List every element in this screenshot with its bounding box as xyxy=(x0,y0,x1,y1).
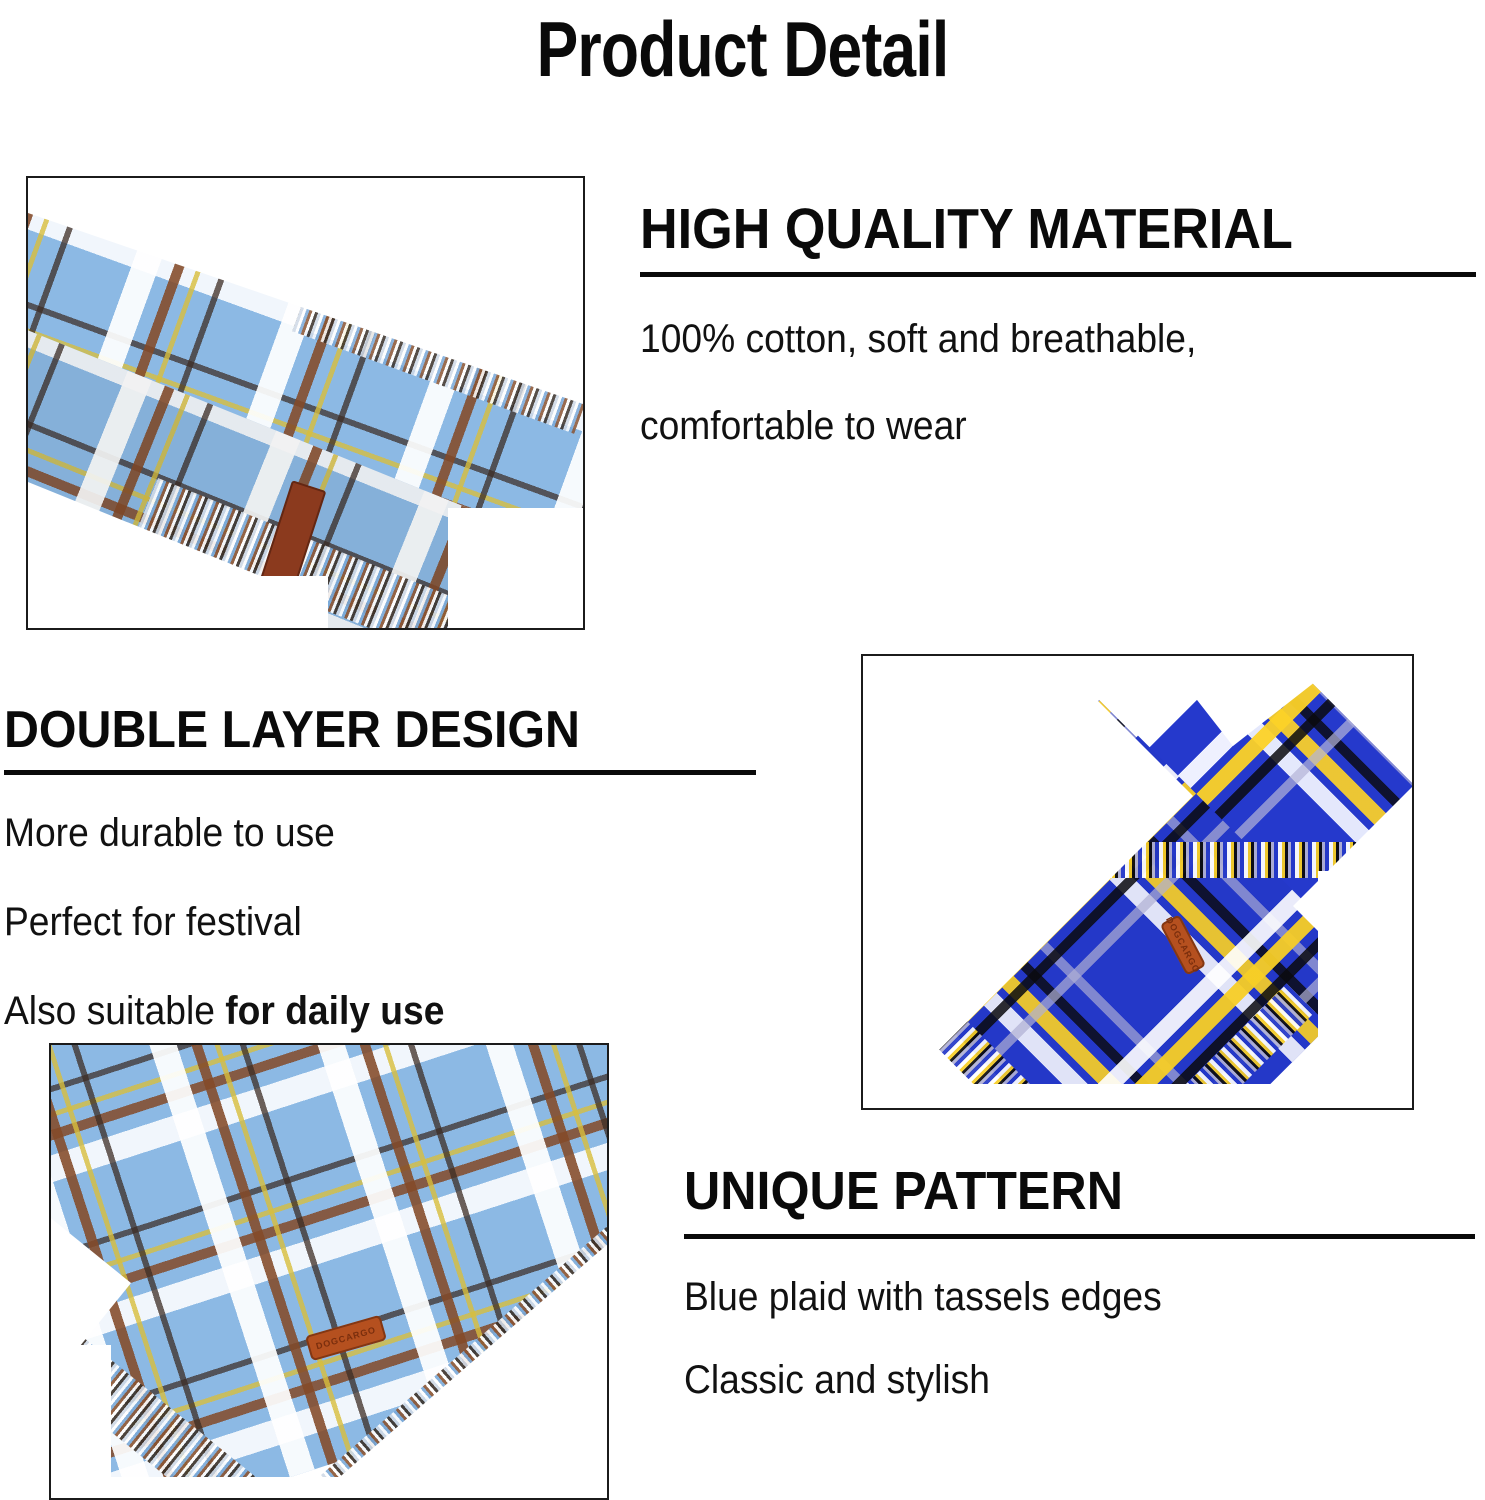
product-photo-blue-bandana: DOGCARGO xyxy=(861,654,1414,1110)
mask-bottom-left xyxy=(28,576,328,630)
feature-line-prefix: Also suitable xyxy=(4,989,225,1033)
light-plaid-scene: DOGCARGO xyxy=(51,1045,607,1498)
mask-left-lower xyxy=(861,871,933,1110)
feature-line-emphasis: Also suitable for daily use xyxy=(4,989,703,1034)
feature-high-quality-material: HIGH QUALITY MATERIAL 100% cotton, soft … xyxy=(640,196,1476,449)
feature-heading-pattern: UNIQUE PATTERN xyxy=(684,1160,1420,1222)
feature-line: More durable to use xyxy=(4,811,703,856)
feature-heading-double-layer: DOUBLE LAYER DESIGN xyxy=(4,700,703,760)
feature-body-double-layer: More durable to use Perfect for festival… xyxy=(4,811,756,1034)
feature-rule-double-layer xyxy=(4,770,756,775)
product-photo-light-plaid: DOGCARGO xyxy=(49,1043,609,1500)
feature-double-layer-design: DOUBLE LAYER DESIGN More durable to use … xyxy=(4,700,756,1034)
feature-line-bold: for daily use xyxy=(225,989,444,1033)
folded-scarf-scene xyxy=(28,178,583,628)
feature-line: Classic and stylish xyxy=(684,1358,1420,1403)
mask-bottom xyxy=(861,1084,1414,1110)
blue-bandana-scene: DOGCARGO xyxy=(863,656,1412,1108)
feature-line: Blue plaid with tassels edges xyxy=(684,1275,1420,1320)
product-photo-folded-scarf xyxy=(26,176,585,630)
feature-body-pattern: Blue plaid with tassels edges Classic an… xyxy=(684,1275,1475,1403)
feature-body-material: 100% cotton, soft and breathable, comfor… xyxy=(640,317,1476,449)
feature-rule-material xyxy=(640,272,1476,277)
feature-rule-pattern xyxy=(684,1234,1475,1239)
feature-line: Perfect for festival xyxy=(4,900,703,945)
mask-bottom-strip xyxy=(49,1477,609,1500)
feature-unique-pattern: UNIQUE PATTERN Blue plaid with tassels e… xyxy=(684,1160,1475,1403)
page-title: Product Detail xyxy=(149,4,1337,95)
mask-bottom-right xyxy=(448,508,585,630)
feature-heading-material: HIGH QUALITY MATERIAL xyxy=(640,196,1405,262)
feature-line: 100% cotton, soft and breathable, xyxy=(640,317,1417,362)
feature-line: comfortable to wear xyxy=(640,404,1417,449)
